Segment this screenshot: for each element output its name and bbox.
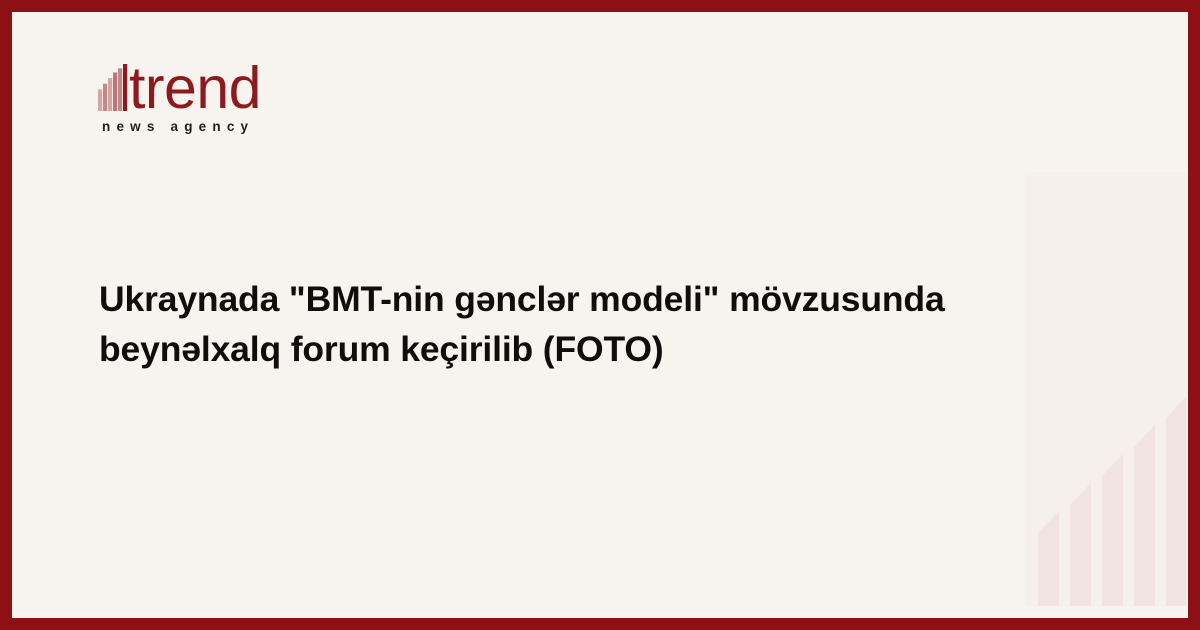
social-share-card: trend news agency Ukraynada "BMT-nin gən… <box>0 0 1200 630</box>
logo-mark: trend <box>98 52 398 112</box>
watermark-bar <box>1134 425 1155 606</box>
trend-bars-watermark-icon <box>1025 172 1186 606</box>
watermark-bar <box>1070 483 1091 606</box>
trend-bars-icon <box>98 64 128 111</box>
brand-logo[interactable]: trend news agency <box>98 52 398 134</box>
watermark-bar <box>1166 396 1186 606</box>
card-content-area: trend news agency Ukraynada "BMT-nin gən… <box>12 12 1188 618</box>
logo-wordmark: trend <box>129 64 261 112</box>
logo-tagline: news agency <box>102 119 398 134</box>
watermark-bar <box>1102 454 1123 606</box>
watermark-bars-svg <box>1025 172 1186 606</box>
page-title: Ukraynada "BMT-nin gənclər modeli" mövzu… <box>99 274 1014 375</box>
logo-bars-svg <box>98 64 128 111</box>
watermark-bar <box>1038 511 1059 606</box>
